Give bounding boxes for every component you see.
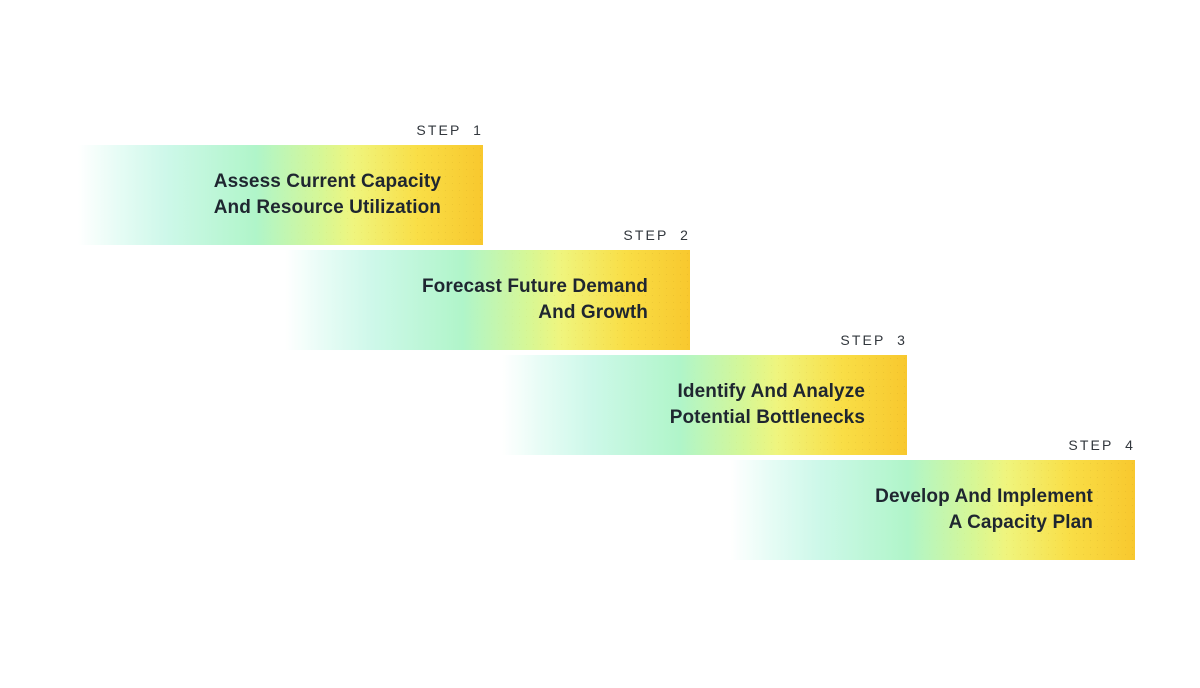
step-title-4: Develop And Implement A Capacity Plan <box>875 460 1093 560</box>
step-label-3: STEP 3 <box>840 332 907 348</box>
step-item-4[interactable]: STEP 4 Develop And Implement A Capacity … <box>730 460 1135 560</box>
step-item-2[interactable]: STEP 2 Forecast Future Demand And Growth <box>285 250 690 350</box>
step-label-2: STEP 2 <box>623 227 690 243</box>
step-label-1: STEP 1 <box>416 122 483 138</box>
step-title-1: Assess Current Capacity And Resource Uti… <box>214 145 441 245</box>
step-label-4: STEP 4 <box>1068 437 1135 453</box>
step-item-1[interactable]: STEP 1 Assess Current Capacity And Resou… <box>78 145 483 245</box>
step-item-3[interactable]: STEP 3 Identify And Analyze Potential Bo… <box>502 355 907 455</box>
step-title-2: Forecast Future Demand And Growth <box>422 250 648 350</box>
diagram-canvas: STEP 1 Assess Current Capacity And Resou… <box>0 0 1200 688</box>
step-title-3: Identify And Analyze Potential Bottlenec… <box>670 355 865 455</box>
